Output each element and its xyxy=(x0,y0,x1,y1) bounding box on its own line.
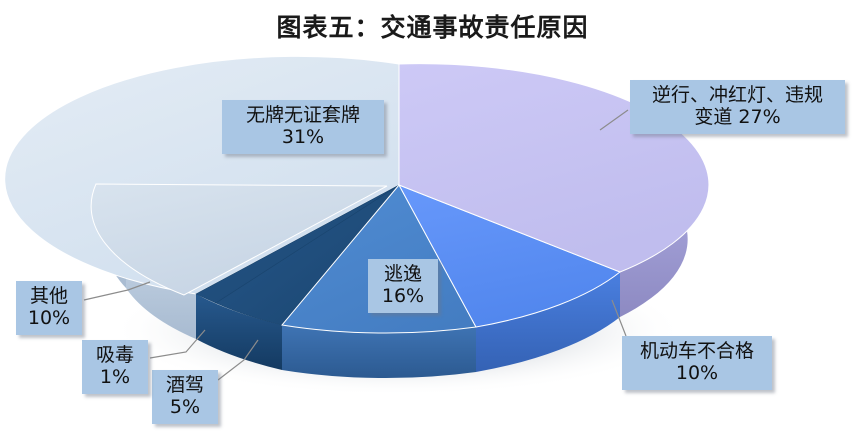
pie-chart-figure: 图表五：交通事故责任原因 xyxy=(0,0,865,438)
callout-label-text: 吸毒 xyxy=(96,344,134,366)
callout-vehicle[interactable]: 机动车不合格 10% xyxy=(622,336,772,390)
callout-value-text: 10% xyxy=(23,307,75,329)
callout-label-text: 无牌无证套牌 xyxy=(246,104,360,126)
callout-value-text: 16% xyxy=(375,285,431,307)
callout-label-text: 逆行、冲红灯、违规 xyxy=(652,84,823,106)
callout-label-text: 酒驾 xyxy=(166,374,204,396)
callout-other[interactable]: 其他 10% xyxy=(16,281,82,335)
callout-hitrun[interactable]: 逃逸 16% xyxy=(368,259,438,313)
callout-label-text: 逃逸 xyxy=(384,263,422,285)
callout-value-text: 10% xyxy=(629,362,765,384)
callout-label-text: 机动车不合格 xyxy=(640,340,754,362)
callout-value-text: 变道 27% xyxy=(637,106,838,128)
callout-trafficviolation[interactable]: 逆行、冲红灯、违规 变道 27% xyxy=(630,80,845,134)
callout-value-text: 1% xyxy=(89,366,141,388)
callout-label-text: 其他 xyxy=(30,285,68,307)
callout-unlicensed[interactable]: 无牌无证套牌 31% xyxy=(222,100,384,154)
callout-value-text: 5% xyxy=(159,396,211,418)
callout-dui[interactable]: 酒驾 5% xyxy=(152,370,218,424)
callout-value-text: 31% xyxy=(229,126,377,148)
callout-drug[interactable]: 吸毒 1% xyxy=(82,340,148,394)
